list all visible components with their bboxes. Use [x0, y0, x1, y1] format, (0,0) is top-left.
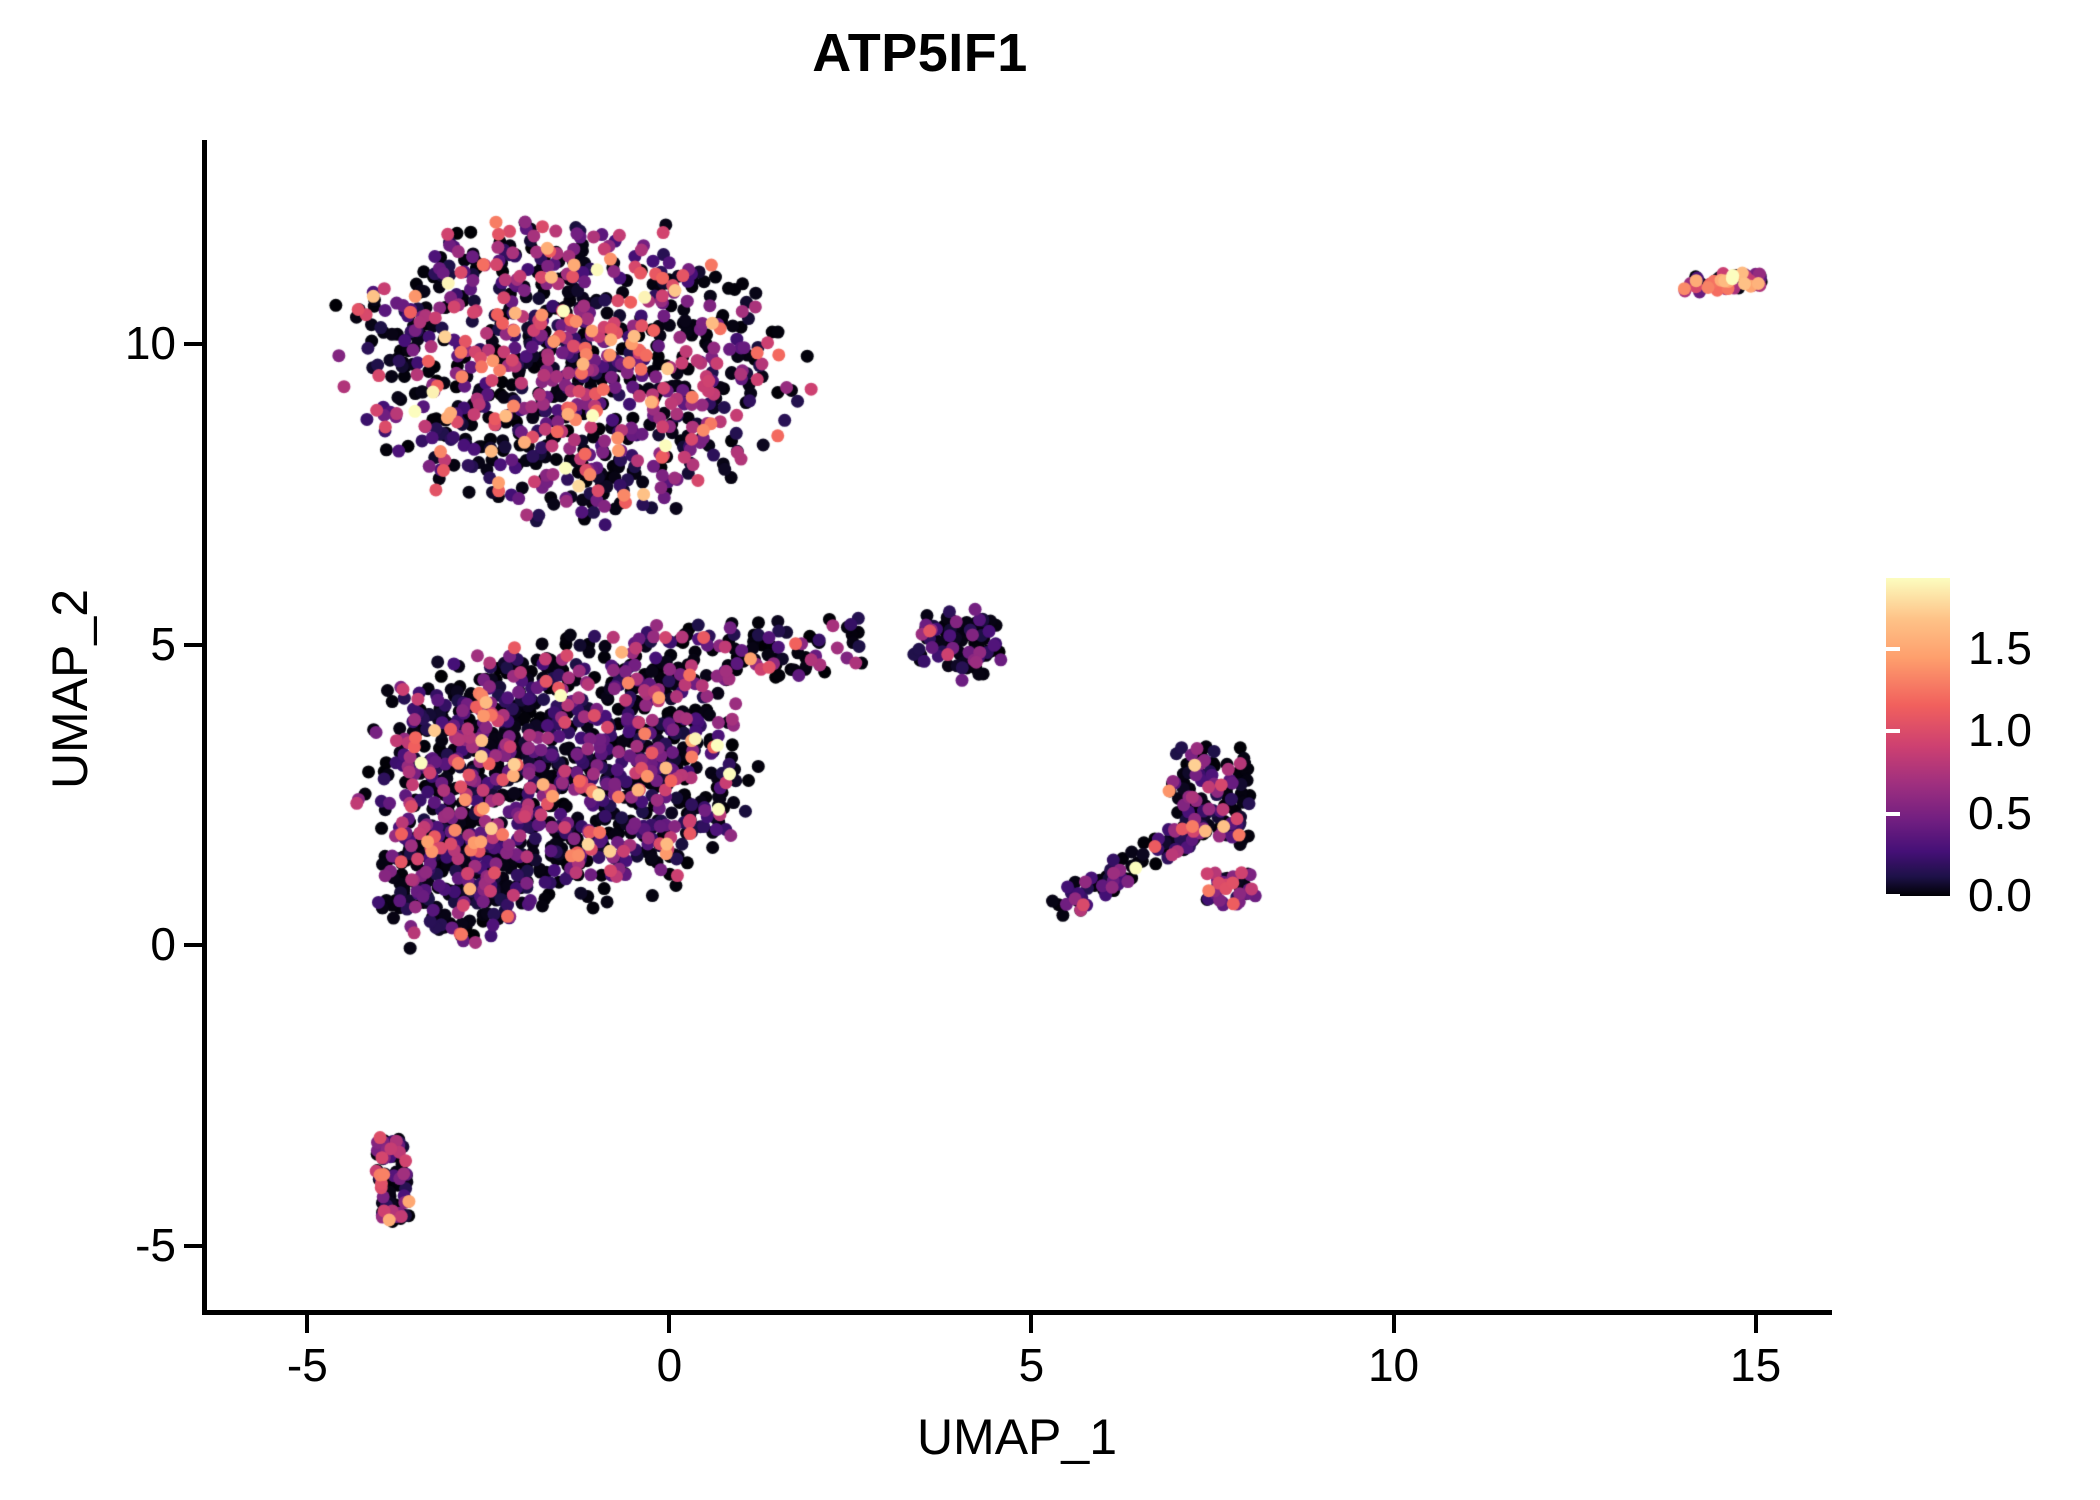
x-tick-label: 5	[951, 1340, 1111, 1391]
colorbar-tick-mark	[2072, 812, 2086, 816]
x-tick-label: -5	[227, 1340, 387, 1391]
x-axis-title: UMAP_1	[206, 1408, 1828, 1466]
colorbar-tick-mark	[1886, 729, 1900, 733]
scatter-plot-panel	[206, 140, 1828, 1312]
colorbar-tick-mark	[2072, 647, 2086, 651]
x-tick-mark	[1754, 1315, 1758, 1333]
page-title: ATP5IF1	[0, 26, 1840, 80]
x-tick-mark	[305, 1315, 309, 1333]
colorbar-tick-label: 0.0	[1968, 872, 2032, 918]
colorbar-legend: 0.00.51.01.5	[1886, 578, 2086, 898]
colorbar-tick-label: 0.5	[1968, 790, 2032, 836]
x-tick-label: 15	[1676, 1340, 1836, 1391]
colorbar-tick-label: 1.0	[1968, 707, 2032, 753]
colorbar-tick-mark	[1886, 812, 1900, 816]
colorbar-tick-mark	[1886, 894, 1900, 898]
colorbar-tick-label: 1.5	[1968, 625, 2032, 671]
x-tick-mark	[667, 1315, 671, 1333]
y-tick-mark	[184, 943, 202, 947]
y-tick-label: -5	[0, 1220, 176, 1271]
y-tick-mark	[184, 1244, 202, 1248]
x-tick-mark	[1029, 1315, 1033, 1333]
colorbar-gradient	[1886, 578, 1950, 896]
y-axis-title: UMAP_2	[41, 289, 99, 1089]
x-axis-line	[202, 1310, 1832, 1315]
colorbar-tick-mark	[2072, 894, 2086, 898]
x-tick-mark	[1392, 1315, 1396, 1333]
colorbar-tick-mark	[1886, 647, 1900, 651]
y-axis-line	[202, 140, 207, 1315]
x-tick-label: 0	[589, 1340, 749, 1391]
colorbar-tick-mark	[2072, 729, 2086, 733]
y-tick-mark	[184, 342, 202, 346]
y-tick-mark	[184, 643, 202, 647]
scatter-points-canvas	[206, 140, 1828, 1312]
chart-page: ATP5IF1 -5051015 -50510 UMAP_1 UMAP_2 0.…	[0, 0, 2100, 1500]
x-tick-label: 10	[1314, 1340, 1474, 1391]
